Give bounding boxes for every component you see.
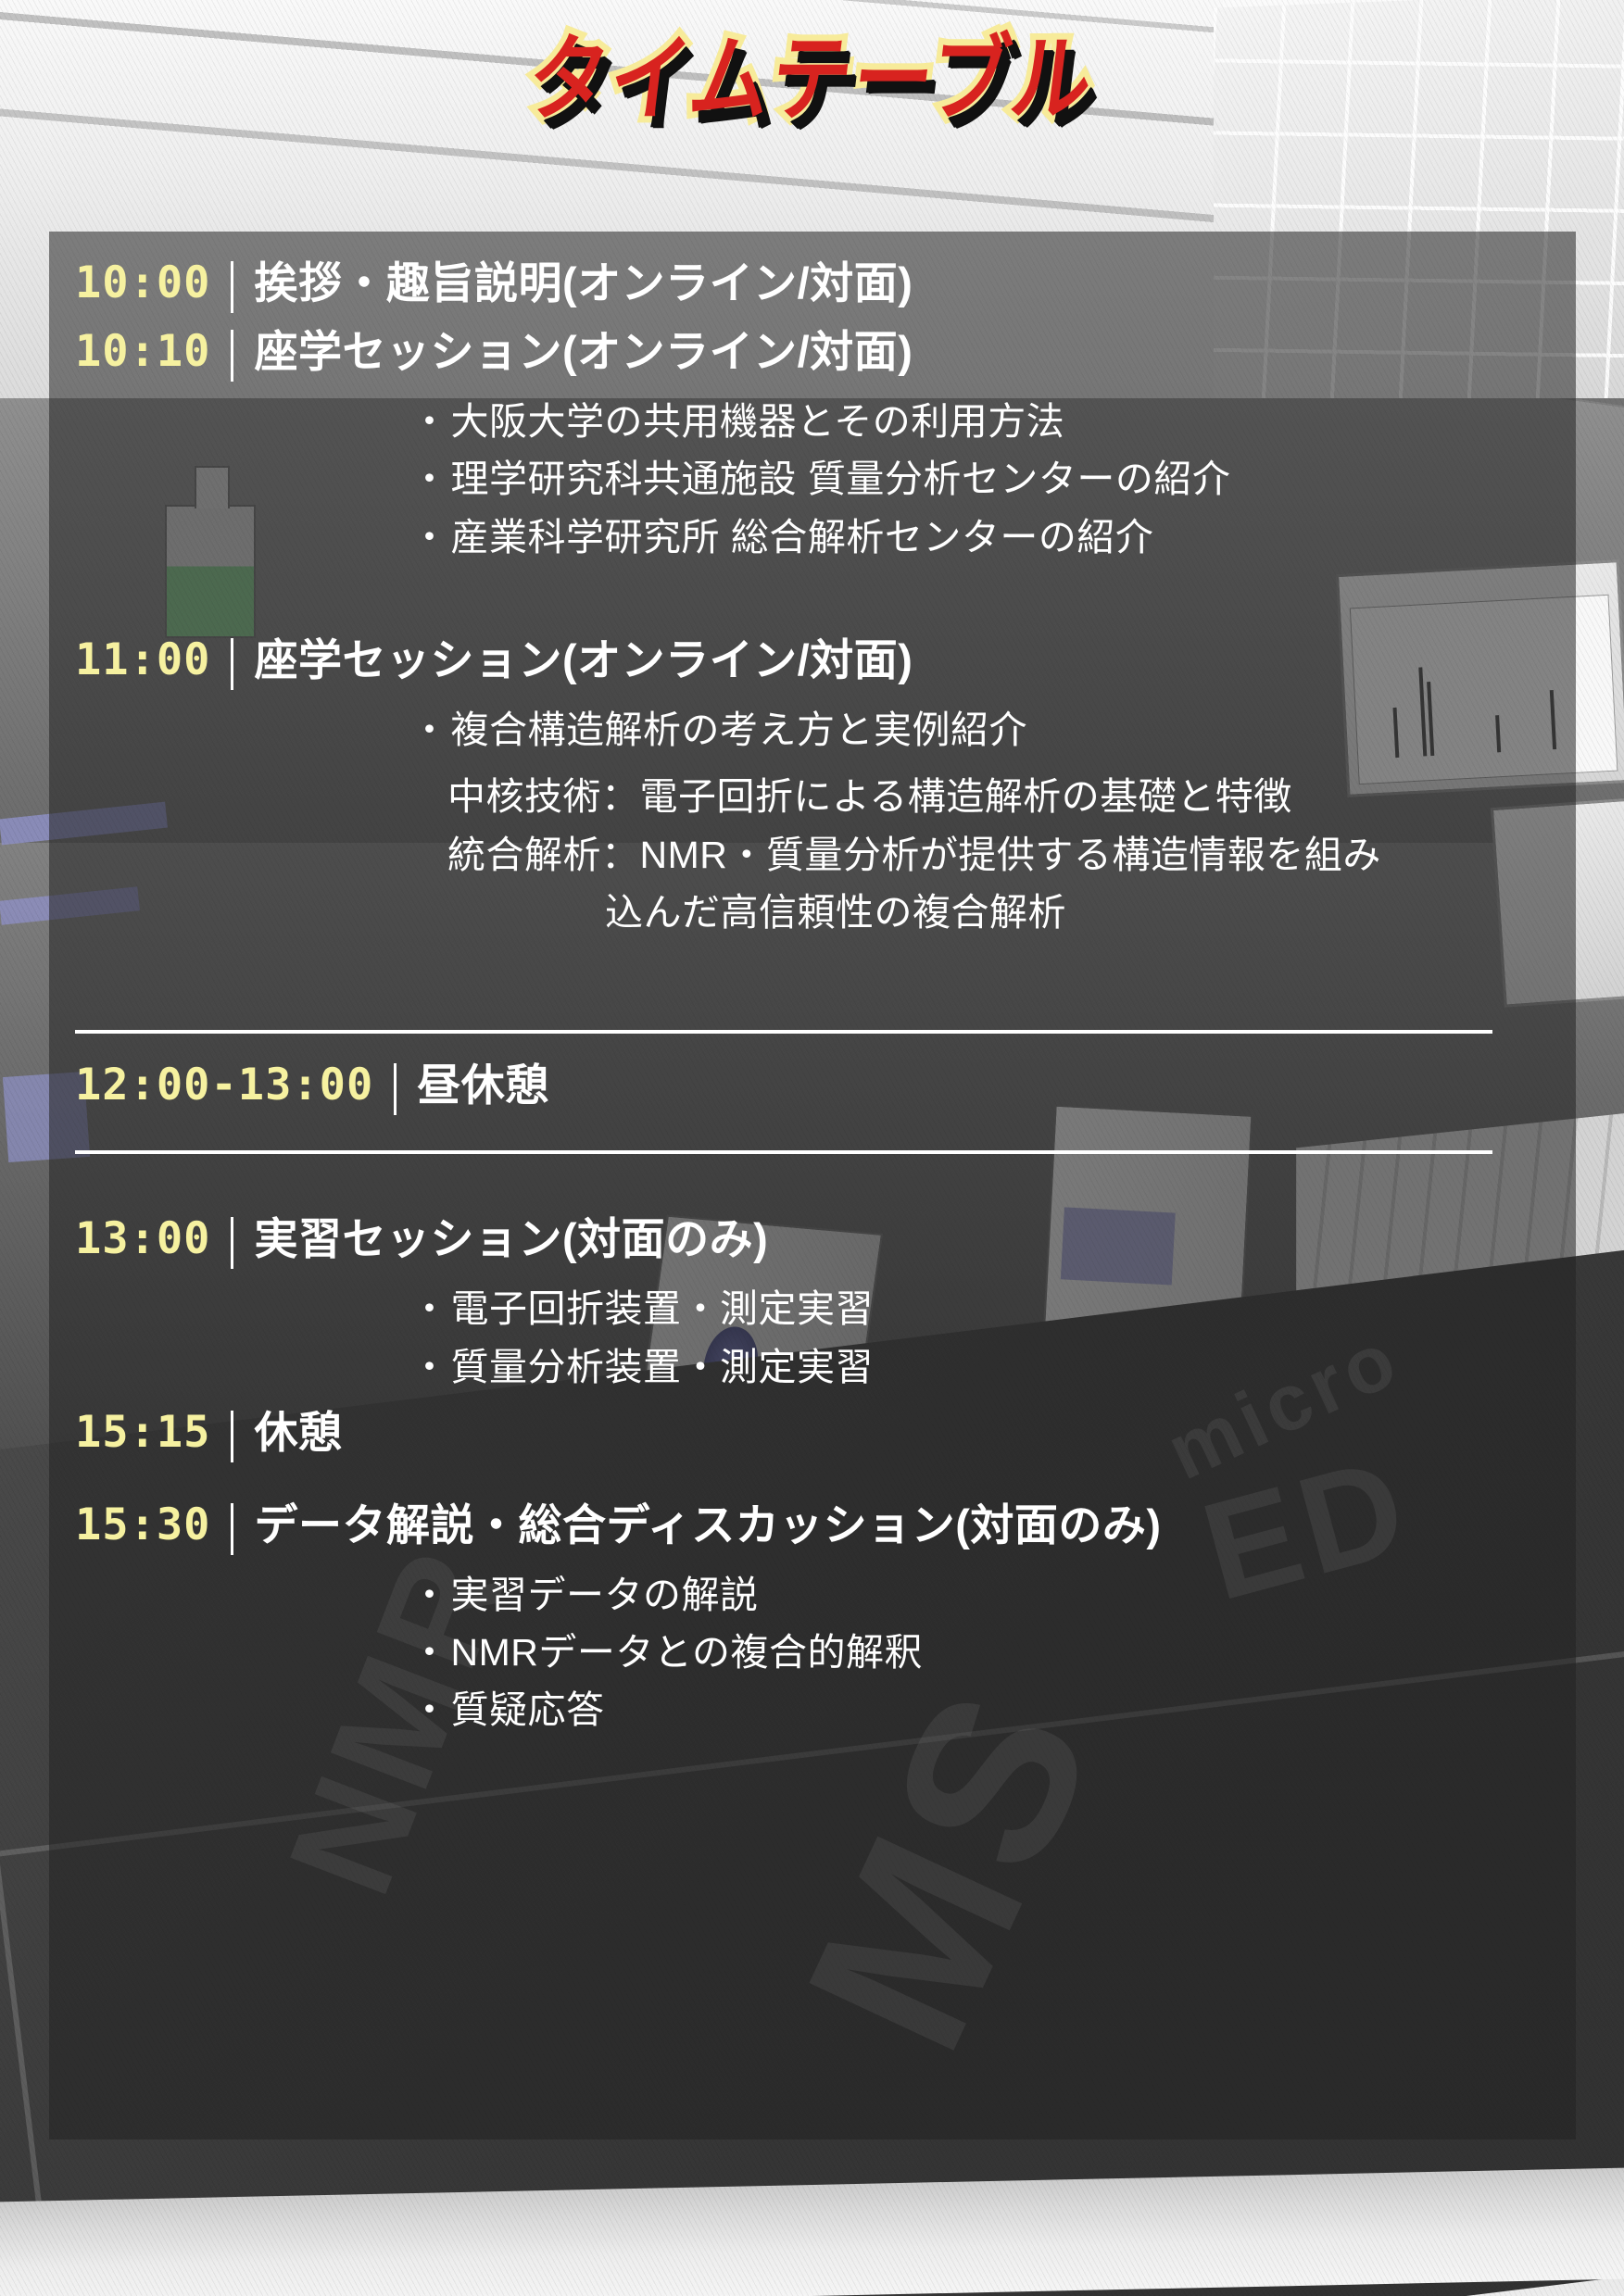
schedule-label: データ解説・総合ディスカッション(対面のみ)	[254, 1498, 1576, 1553]
schedule-time: 15:30	[49, 1498, 210, 1553]
schedule-bullets: 複合構造解析の考え方と実例紹介	[49, 701, 1576, 759]
schedule-bullets: 実習データの解説 NMRデータとの複合的解釈 質疑応答	[49, 1566, 1576, 1739]
schedule-time: 10:10	[49, 324, 210, 380]
schedule-time: 12:00-13:00	[49, 1058, 373, 1113]
schedule-label: 座学セッション(オンライン/対面)	[254, 633, 1576, 688]
schedule-subline: 中核技術：電子回折による構造解析の基礎と特徴	[447, 768, 1576, 825]
schedule-label: 昼休憩	[417, 1058, 1576, 1113]
list-item: 実習データの解説	[410, 1566, 1576, 1624]
schedule-row: 15:30 データ解説・総合ディスカッション(対面のみ)	[49, 1498, 1576, 1561]
row-separator	[231, 638, 233, 690]
list-item: NMRデータとの複合的解釈	[410, 1624, 1576, 1681]
row-separator	[394, 1063, 397, 1115]
row-separator	[231, 330, 233, 382]
schedule-bullets: 電子回折装置・測定実習 質量分析装置・測定実習	[49, 1280, 1576, 1396]
timetable-content: 10:00 挨拶・趣旨説明(オンライン/対面) 10:10 座学セッション(オン…	[49, 232, 1576, 1749]
schedule-subline: 統合解析：NMR・質量分析が提供する構造情報を組み	[447, 826, 1576, 884]
schedule-time: 10:00	[49, 256, 210, 311]
list-item: 大阪大学の共用機器とその利用方法	[410, 393, 1576, 450]
schedule-label: 挨拶・趣旨説明(オンライン/対面)	[254, 256, 1576, 311]
poster-title-text: タイムテーブル	[522, 3, 1102, 140]
schedule-label: 実習セッション(対面のみ)	[254, 1211, 1576, 1267]
schedule-time: 11:00	[49, 633, 210, 688]
list-item: 理学研究科共通施設 質量分析センターの紹介	[410, 450, 1576, 508]
schedule-bullets: 大阪大学の共用機器とその利用方法 理学研究科共通施設 質量分析センターの紹介 産…	[49, 393, 1576, 566]
schedule-time: 15:15	[49, 1405, 210, 1461]
list-item: 質量分析装置・測定実習	[410, 1338, 1576, 1396]
schedule-row: 15:15 休憩	[49, 1405, 1576, 1468]
row-separator	[231, 1217, 233, 1269]
schedule-row: 13:00 実習セッション(対面のみ)	[49, 1211, 1576, 1274]
list-item: 複合構造解析の考え方と実例紹介	[410, 701, 1576, 759]
schedule-row: 12:00-13:00 昼休憩	[49, 1058, 1576, 1121]
list-item: 電子回折装置・測定実習	[410, 1280, 1576, 1337]
poster-title: タイムテーブル	[0, 13, 1624, 129]
schedule-label: 休憩	[254, 1405, 1576, 1461]
schedule-row: 10:10 座学セッション(オンライン/対面)	[49, 324, 1576, 387]
schedule-row: 10:00 挨拶・趣旨説明(オンライン/対面)	[49, 256, 1576, 319]
schedule-row: 11:00 座学セッション(オンライン/対面)	[49, 633, 1576, 696]
schedule-subline: 込んだ高信頼性の複合解析	[605, 884, 1576, 941]
row-separator	[231, 1411, 233, 1462]
timetable-poster: micro ED NMR MS タイムテーブル 10:00 挨拶・趣旨説明(オン…	[0, 0, 1624, 2296]
row-separator	[231, 1503, 233, 1555]
schedule-label: 座学セッション(オンライン/対面)	[254, 324, 1576, 380]
schedule-time: 13:00	[49, 1211, 210, 1267]
list-item: 質疑応答	[410, 1681, 1576, 1738]
row-separator	[231, 261, 233, 313]
list-item: 産業科学研究所 総合解析センターの紹介	[410, 508, 1576, 566]
